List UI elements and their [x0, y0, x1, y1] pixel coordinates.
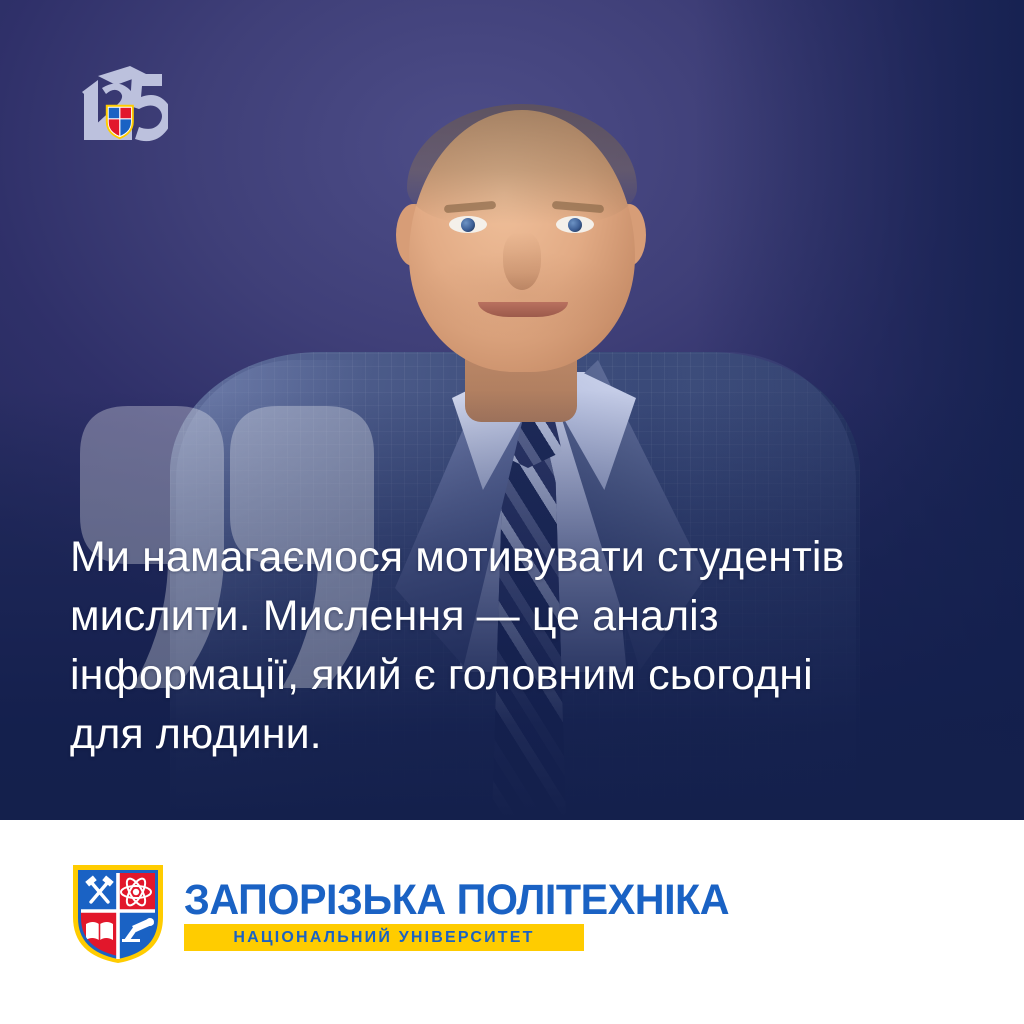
wordmark-subtitle: НАЦІОНАЛЬНИЙ УНІВЕРСИТЕТ	[194, 929, 574, 946]
quote-line-1: Ми намагаємося мотивувати студентів	[70, 528, 960, 587]
university-crest-icon	[70, 862, 166, 966]
wordmark-title: ЗАПОРІЗЬКА ПОЛІТЕХНІКА	[184, 878, 729, 922]
university-logo[interactable]: ЗАПОРІЗЬКА ПОЛІТЕХНІКА НАЦІОНАЛЬНИЙ УНІВ…	[70, 862, 752, 966]
wordmark-subtitle-band: НАЦІОНАЛЬНИЙ УНІВЕРСИТЕТ	[184, 924, 584, 951]
iris-left	[461, 218, 475, 232]
quote-line-2: мислити. Мислення — це аналіз	[70, 587, 960, 646]
quote-line-3: інформації, який є головним сьогодні	[70, 646, 960, 705]
footer-bar: ЗАПОРІЗЬКА ПОЛІТЕХНІКА НАЦІОНАЛЬНИЙ УНІВ…	[0, 820, 1024, 1024]
anniversary-125-icon	[72, 52, 168, 150]
nose	[503, 232, 541, 290]
wordmark: ЗАПОРІЗЬКА ПОЛІТЕХНІКА НАЦІОНАЛЬНИЙ УНІВ…	[184, 878, 752, 951]
hero-photo-area: Ми намагаємося мотивувати студентів мисл…	[0, 0, 1024, 820]
quote-poster: Ми намагаємося мотивувати студентів мисл…	[0, 0, 1024, 1024]
quote-text: Ми намагаємося мотивувати студентів мисл…	[70, 528, 960, 764]
iris-right	[568, 218, 582, 232]
quote-line-4: для людини.	[70, 705, 960, 764]
